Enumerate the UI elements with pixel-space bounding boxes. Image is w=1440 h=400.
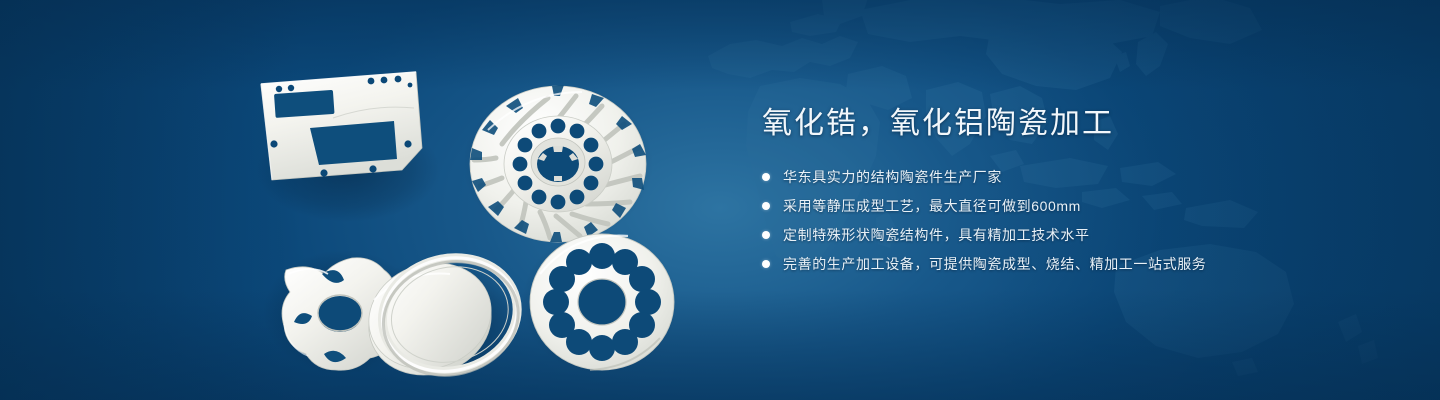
ceramic-products-image bbox=[238, 52, 698, 382]
ceramic-perforated-disc bbox=[530, 234, 674, 370]
list-item: 完善的生产加工设备，可提供陶瓷成型、烧结、精加工一站式服务 bbox=[762, 254, 1322, 274]
page-title: 氧化锆，氧化铝陶瓷加工 bbox=[762, 105, 1322, 143]
feature-text: 华东具实力的结构陶瓷件生产厂家 bbox=[783, 167, 1002, 187]
list-item: 定制特殊形状陶瓷结构件，具有精加工技术水平 bbox=[762, 225, 1322, 245]
bullet-dot-icon bbox=[762, 173, 770, 181]
list-item: 华东具实力的结构陶瓷件生产厂家 bbox=[762, 167, 1322, 187]
banner-copy: 氧化锆，氧化铝陶瓷加工 华东具实力的结构陶瓷件生产厂家 采用等静压成型工艺，最大… bbox=[762, 105, 1322, 283]
ceramic-product-banner: 氧化锆，氧化铝陶瓷加工 华东具实力的结构陶瓷件生产厂家 采用等静压成型工艺，最大… bbox=[0, 0, 1440, 400]
feature-list: 华东具实力的结构陶瓷件生产厂家 采用等静压成型工艺，最大直径可做到600mm 定… bbox=[762, 167, 1322, 274]
ceramic-mounting-plate bbox=[261, 72, 422, 180]
bullet-dot-icon bbox=[762, 202, 770, 210]
list-item: 采用等静压成型工艺，最大直径可做到600mm bbox=[762, 196, 1322, 216]
feature-text: 采用等静压成型工艺，最大直径可做到600mm bbox=[783, 196, 1081, 216]
bullet-dot-icon bbox=[762, 260, 770, 268]
ceramic-impeller bbox=[470, 85, 646, 242]
bullet-dot-icon bbox=[762, 231, 770, 239]
feature-text: 完善的生产加工设备，可提供陶瓷成型、烧结、精加工一站式服务 bbox=[783, 254, 1206, 274]
feature-text: 定制特殊形状陶瓷结构件，具有精加工技术水平 bbox=[783, 225, 1090, 245]
